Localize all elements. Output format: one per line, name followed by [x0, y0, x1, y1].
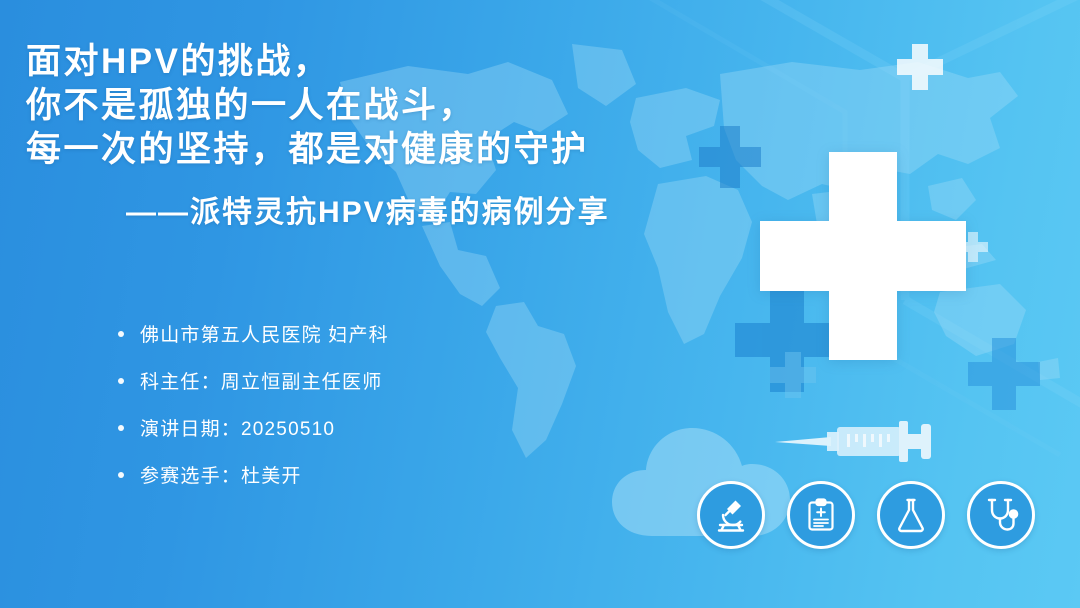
medical-cross-icon [770, 352, 816, 398]
list-item-label: 参赛选手：杜美开 [140, 461, 302, 488]
medical-cross-icon [958, 232, 988, 262]
syringe-icon [775, 418, 955, 464]
list-item-label: 演讲日期：20250510 [140, 414, 335, 441]
headline-line-3: 每一次的坚持，都是对健康的守护 [26, 128, 589, 172]
flask-icon [877, 481, 945, 549]
stethoscope-icon [967, 481, 1035, 549]
list-item: 参赛选手：杜美开 [118, 451, 389, 498]
page-title: 面对HPV的挑战， 你不是孤独的一人在战斗， 每一次的坚持，都是对健康的守护 [26, 40, 589, 172]
presenter-info-list: 佛山市第五人民医院 妇产科 科主任：周立恒副主任医师 演讲日期：20250510… [118, 310, 389, 498]
bullet-dot-icon [118, 378, 124, 384]
medical-cross-icon [968, 338, 1040, 410]
bullet-dot-icon [118, 331, 124, 337]
presentation-title-slide: 面对HPV的挑战， 你不是孤独的一人在战斗， 每一次的坚持，都是对健康的守护 —… [0, 0, 1080, 608]
bullet-dot-icon [118, 472, 124, 478]
medical-cross-large-white-icon [760, 152, 966, 360]
medical-cross-icon [897, 44, 943, 90]
bullet-dot-icon [118, 425, 124, 431]
medical-icon-row [697, 481, 1035, 549]
clipboard-medical-icon [787, 481, 855, 549]
list-item-label: 佛山市第五人民医院 妇产科 [140, 320, 389, 347]
medical-cross-icon [699, 126, 761, 188]
list-item: 佛山市第五人民医院 妇产科 [118, 310, 389, 357]
subtitle: ——派特灵抗HPV病毒的病例分享 [126, 193, 610, 233]
list-item: 科主任：周立恒副主任医师 [118, 357, 389, 404]
medical-cross-icon [735, 288, 839, 392]
microscope-icon [697, 481, 765, 549]
headline-line-1: 面对HPV的挑战， [26, 40, 589, 84]
headline-line-2: 你不是孤独的一人在战斗， [26, 84, 589, 128]
list-item: 演讲日期：20250510 [118, 404, 389, 451]
list-item-label: 科主任：周立恒副主任医师 [140, 367, 382, 394]
